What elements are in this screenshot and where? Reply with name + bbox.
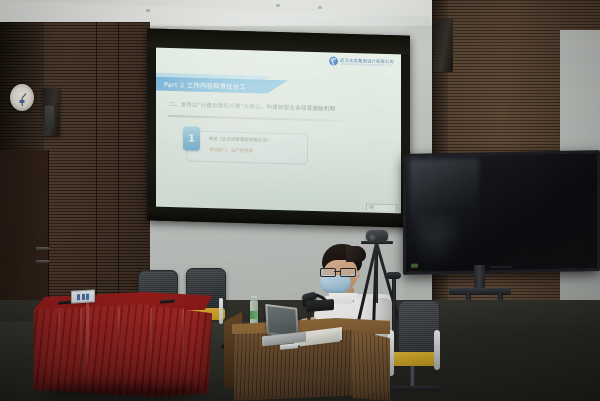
door-handle[interactable] bbox=[36, 247, 49, 250]
television-brand: PANASONIC bbox=[491, 265, 512, 269]
slide-section-banner: Part 2 工作内容和责任分工 bbox=[156, 77, 288, 95]
table-floor-shadow bbox=[44, 386, 204, 400]
eyeglass-lens-right bbox=[340, 268, 356, 277]
slide-card-number: 1 bbox=[183, 126, 200, 150]
conference-room-photo: 武汉水务集团设计有限公司 WUHAN WATER GROUP DESIGN CO… bbox=[0, 0, 600, 401]
company-logo-text-group: 武汉水务集团设计有限公司 WUHAN WATER GROUP DESIGN CO… bbox=[340, 57, 394, 67]
ceiling-light-dot bbox=[318, 6, 322, 9]
ceiling-light-dot bbox=[276, 4, 280, 7]
television: PANASONIC bbox=[403, 150, 600, 275]
slide-divider-rule bbox=[168, 115, 358, 122]
eyeglass-lens-left bbox=[320, 268, 336, 277]
chair-armrest-right bbox=[434, 330, 440, 370]
name-card-stripe bbox=[82, 293, 85, 299]
name-card-stripe bbox=[77, 294, 80, 300]
slide-card-line-2: 责任部门：生产经营部 bbox=[209, 147, 253, 154]
skirt-fold bbox=[150, 308, 152, 392]
speaker-right bbox=[434, 18, 453, 72]
presentation-slide: 武汉水务集团设计有限公司 WUHAN WATER GROUP DESIGN CO… bbox=[156, 48, 401, 214]
water-bottle-cap bbox=[251, 296, 257, 301]
television-reflection-lower bbox=[417, 213, 463, 267]
table-edge-highlight bbox=[86, 298, 89, 388]
slide-subtitle: 二、坚持以"分建后建和分策"为核心，构建新型业务经营激励机制 bbox=[169, 100, 335, 113]
slide-taskbar-icon bbox=[366, 203, 397, 211]
skirt-fold bbox=[182, 308, 184, 392]
eyeglasses-icon bbox=[320, 268, 356, 275]
slide-card-line-1: 制定《业务经营激励管理办法》 bbox=[209, 136, 270, 144]
delegate-name-card bbox=[71, 289, 95, 303]
chair-seat bbox=[392, 352, 438, 366]
face-mask-icon bbox=[320, 275, 351, 293]
clock-brand-mark bbox=[20, 100, 25, 103]
door-handle-lower[interactable] bbox=[36, 260, 49, 263]
skirt-fold bbox=[80, 308, 82, 392]
name-card-stripe bbox=[86, 293, 89, 299]
slide-numbered-card: 1 制定《业务经营激励管理办法》 责任部门：生产经营部 bbox=[186, 130, 308, 164]
ceiling-light-dot bbox=[146, 9, 150, 12]
projection-screen: 武汉水务集团设计有限公司 WUHAN WATER GROUP DESIGN CO… bbox=[147, 28, 410, 227]
skirt-fold bbox=[118, 308, 120, 392]
chair-frame-right bbox=[219, 298, 223, 324]
speaker-left bbox=[42, 88, 59, 136]
slide-section-title: Part 2 工作内容和责任分工 bbox=[164, 79, 246, 90]
clock-face bbox=[13, 87, 31, 108]
background-microphone-head bbox=[386, 272, 401, 279]
slide-company-logo: 武汉水务集团设计有限公司 WUHAN WATER GROUP DESIGN CO… bbox=[329, 56, 394, 67]
podium-control-unit bbox=[306, 299, 334, 312]
chair-gas-lift bbox=[410, 366, 415, 388]
wall-clock bbox=[10, 84, 34, 111]
podium-side-panel bbox=[352, 328, 390, 401]
chair-base bbox=[392, 386, 440, 391]
company-logo-icon bbox=[329, 56, 338, 65]
skirt-fold bbox=[58, 308, 60, 392]
red-draped-table bbox=[30, 292, 212, 397]
